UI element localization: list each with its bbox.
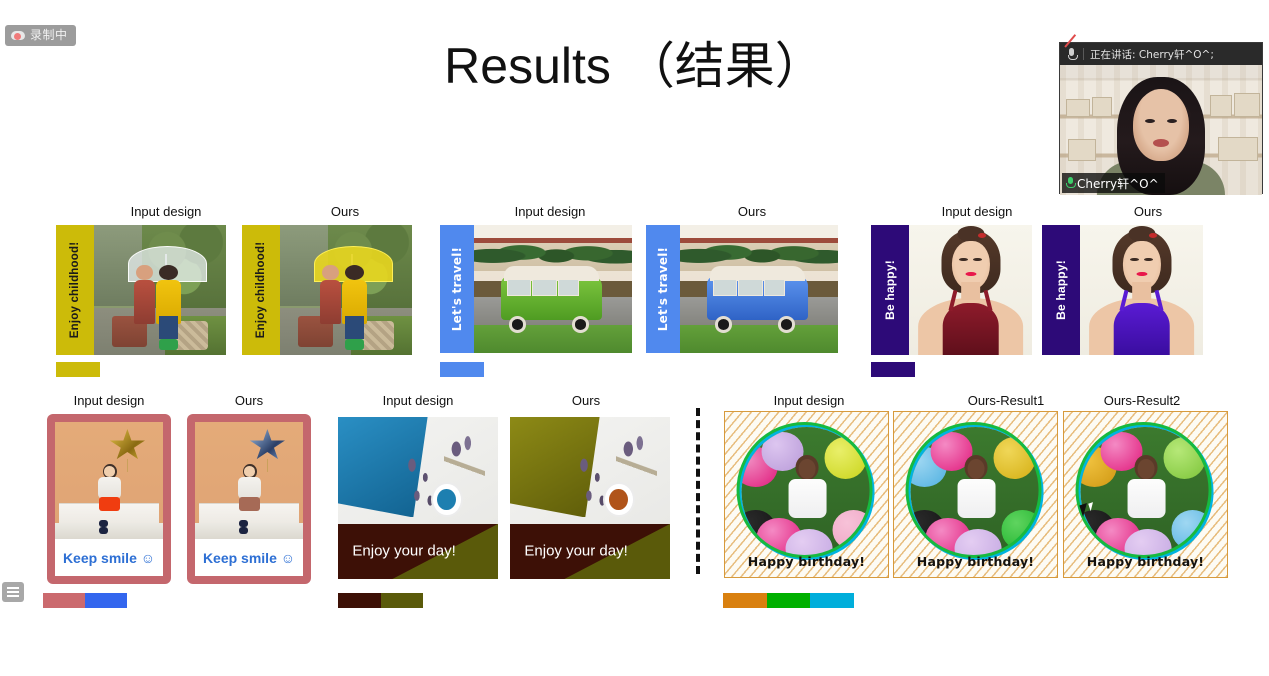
label-ours: Ours xyxy=(526,393,646,408)
photo-kid-balloon xyxy=(195,422,303,539)
photo-kids-umbrella xyxy=(280,225,412,355)
participant-face xyxy=(1133,89,1189,161)
label-ours: Ours xyxy=(189,393,309,408)
mic-muted-icon xyxy=(1066,47,1077,62)
circular-photo xyxy=(907,424,1044,561)
color-swatch xyxy=(871,362,915,377)
label-ours: Ours xyxy=(1088,204,1208,219)
card-input-design[interactable]: Keep smile ☺ xyxy=(47,414,171,584)
card-caption: Enjoy childhood! xyxy=(69,242,81,338)
card-input-design[interactable]: Let's travel! xyxy=(440,225,632,353)
photo-birthday-girl xyxy=(910,427,1041,558)
sidebar-strip: Enjoy childhood! xyxy=(242,225,280,355)
card-caption: Keep smile ☺ xyxy=(55,539,163,576)
card-input-design[interactable]: Happy birthday! xyxy=(724,411,889,578)
section-divider xyxy=(696,408,700,574)
photo-birthday-girl xyxy=(741,427,872,558)
sidebar-strip: Let's travel! xyxy=(646,225,680,353)
card-caption: Happy birthday! xyxy=(894,554,1057,569)
list-icon[interactable] xyxy=(2,582,24,602)
sidebar-strip: Be happy! xyxy=(871,225,909,355)
card-ours-result1[interactable]: Happy birthday! xyxy=(893,411,1058,578)
photo-kids-umbrella xyxy=(94,225,226,355)
sidebar-strip: Enjoy childhood! xyxy=(56,225,94,355)
video-feed: Cherry轩^O^ xyxy=(1060,65,1262,195)
card-ours[interactable]: Enjoy childhood! xyxy=(242,225,412,355)
photo-woman-portrait xyxy=(909,225,1032,355)
photo-van xyxy=(474,225,632,353)
label-input-design: Input design xyxy=(490,204,610,219)
photo-kid-balloon xyxy=(55,422,163,539)
card-caption: Enjoy childhood! xyxy=(255,242,267,338)
speaking-label: 正在讲话: Cherry轩^O^; xyxy=(1090,47,1214,62)
shelf-box xyxy=(1092,97,1112,117)
color-swatch xyxy=(723,593,854,608)
card-caption: Enjoy your day! xyxy=(352,543,455,560)
card-caption: Let's travel! xyxy=(656,247,670,331)
photo-birthday-girl xyxy=(1080,427,1211,558)
circular-photo xyxy=(1077,424,1214,561)
card-caption: Be happy! xyxy=(883,260,897,320)
label-ours-result2: Ours-Result2 xyxy=(1054,393,1230,408)
shelf-box xyxy=(1234,93,1260,117)
color-swatch xyxy=(440,362,484,377)
card-caption: Happy birthday! xyxy=(725,554,888,569)
card-caption: Be happy! xyxy=(1054,260,1068,320)
label-ours: Ours xyxy=(285,204,405,219)
card-caption: Let's travel! xyxy=(450,247,464,331)
star-balloon xyxy=(249,429,286,462)
sidebar-strip: Let's travel! xyxy=(440,225,474,353)
label-input-design: Input design xyxy=(49,393,169,408)
header-divider xyxy=(1083,48,1084,60)
video-panel-header: 正在讲话: Cherry轩^O^; xyxy=(1060,43,1262,65)
card-caption: Enjoy your day! xyxy=(524,543,627,560)
color-swatch xyxy=(43,593,127,608)
card-input-design[interactable]: Be happy! xyxy=(871,225,1032,355)
color-swatch xyxy=(56,362,100,377)
shelf-box xyxy=(1210,95,1232,117)
mic-on-icon xyxy=(1065,176,1075,190)
card-ours[interactable]: Enjoy your day! xyxy=(510,417,670,579)
label-input-design: Input design xyxy=(104,204,228,219)
card-inner: Keep smile ☺ xyxy=(55,422,163,576)
card-ours[interactable]: Be happy! xyxy=(1042,225,1203,355)
cup xyxy=(431,482,463,518)
card-ours-result2[interactable]: Happy birthday! xyxy=(1063,411,1228,578)
shelf-box xyxy=(1068,139,1096,161)
label-input-design: Input design xyxy=(748,393,870,408)
photo-woman-portrait xyxy=(1080,225,1203,355)
shelf-box xyxy=(1218,137,1258,161)
label-input-design: Input design xyxy=(358,393,478,408)
circular-photo xyxy=(738,424,875,561)
card-input-design[interactable]: Enjoy childhood! xyxy=(56,225,226,355)
participant-name-badge: Cherry轩^O^ xyxy=(1062,173,1165,193)
card-caption: Keep smile ☺ xyxy=(195,539,303,576)
page-title-en: Results xyxy=(444,38,611,94)
color-swatch xyxy=(338,593,423,608)
cup xyxy=(603,482,635,518)
sidebar-strip: Be happy! xyxy=(1042,225,1080,355)
card-ours[interactable]: Let's travel! xyxy=(646,225,838,353)
label-input-design: Input design xyxy=(917,204,1037,219)
participant-name: Cherry轩^O^ xyxy=(1077,175,1159,192)
label-ours: Ours xyxy=(692,204,812,219)
star-balloon xyxy=(109,429,146,462)
page-title-cn: （结果） xyxy=(625,37,825,95)
card-inner: Keep smile ☺ xyxy=(195,422,303,576)
card-ours[interactable]: Keep smile ☺ xyxy=(187,414,311,584)
video-participant-panel[interactable]: 正在讲话: Cherry轩^O^; Cherry轩^O^ xyxy=(1059,42,1263,194)
shelf-box xyxy=(1066,99,1090,117)
banner: Enjoy your day! xyxy=(338,524,498,579)
photo-van xyxy=(680,225,838,353)
card-input-design[interactable]: Enjoy your day! xyxy=(338,417,498,579)
banner: Enjoy your day! xyxy=(510,524,670,579)
card-caption: Happy birthday! xyxy=(1064,554,1227,569)
